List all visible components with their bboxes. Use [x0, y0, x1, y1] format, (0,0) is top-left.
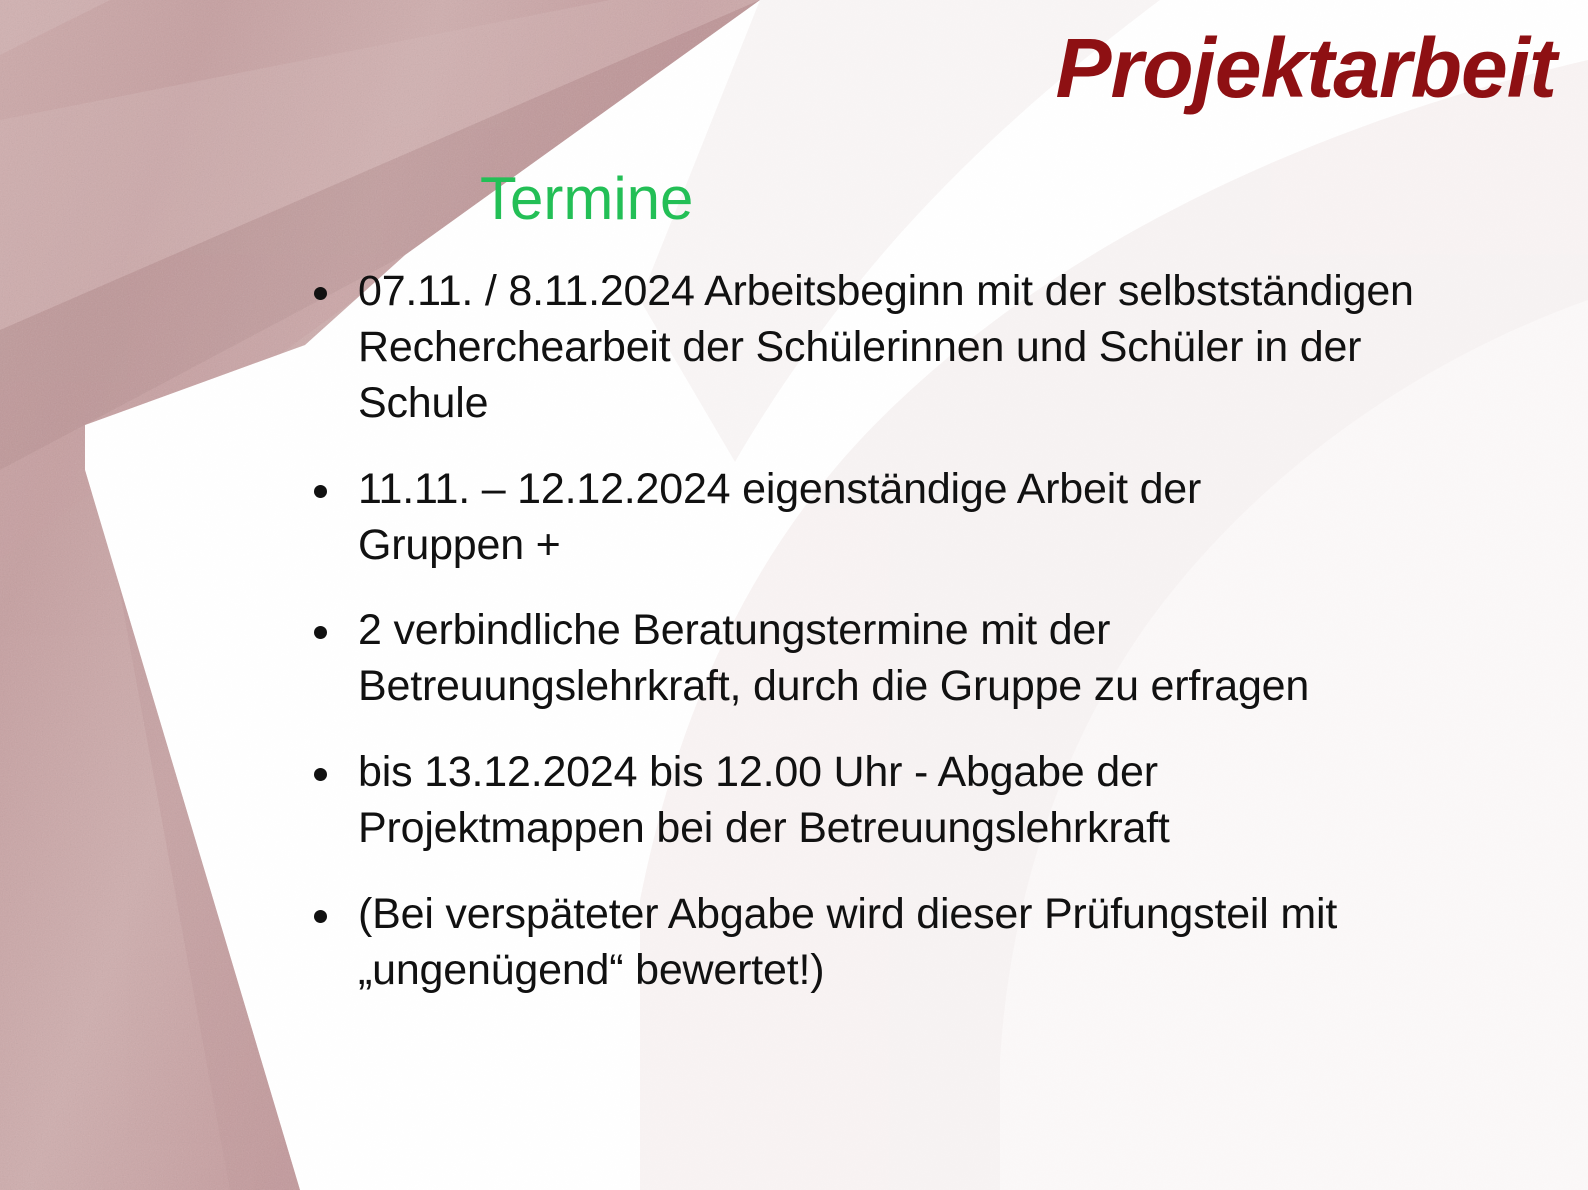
- list-item: 2 verbindliche Beratungstermine mit der …: [300, 603, 1510, 715]
- bullet-list: 07.11. / 8.11.2024 Arbeitsbeginn mit der…: [300, 264, 1510, 1029]
- list-item: 11.11. – 12.12.2024 eigenständige Arbeit…: [300, 462, 1510, 574]
- slide-subtitle: Termine: [480, 166, 693, 232]
- slide-title: Projektarbeit: [0, 24, 1556, 112]
- bullet-dot-icon: [300, 264, 358, 320]
- bullet-dot-icon: [300, 603, 358, 659]
- list-item-label: 2 verbindliche Beratungstermine mit der …: [358, 603, 1470, 715]
- bullet-dot-icon: [300, 745, 358, 801]
- list-item-label: (Bei verspäteter Abgabe wird dieser Prüf…: [358, 887, 1510, 999]
- slide-canvas: Projektarbeit Termine 07.11. / 8.11.2024…: [0, 0, 1588, 1190]
- bullet-dot-icon: [300, 887, 358, 943]
- list-item-label: 11.11. – 12.12.2024 eigenständige Arbeit…: [358, 462, 1368, 574]
- list-item-label: bis 13.12.2024 bis 12.00 Uhr - Abgabe de…: [358, 745, 1388, 857]
- list-item: 07.11. / 8.11.2024 Arbeitsbeginn mit der…: [300, 264, 1510, 432]
- list-item: bis 13.12.2024 bis 12.00 Uhr - Abgabe de…: [300, 745, 1510, 857]
- list-item: (Bei verspäteter Abgabe wird dieser Prüf…: [300, 887, 1510, 999]
- list-item-label: 07.11. / 8.11.2024 Arbeitsbeginn mit der…: [358, 264, 1478, 432]
- bullet-dot-icon: [300, 462, 358, 518]
